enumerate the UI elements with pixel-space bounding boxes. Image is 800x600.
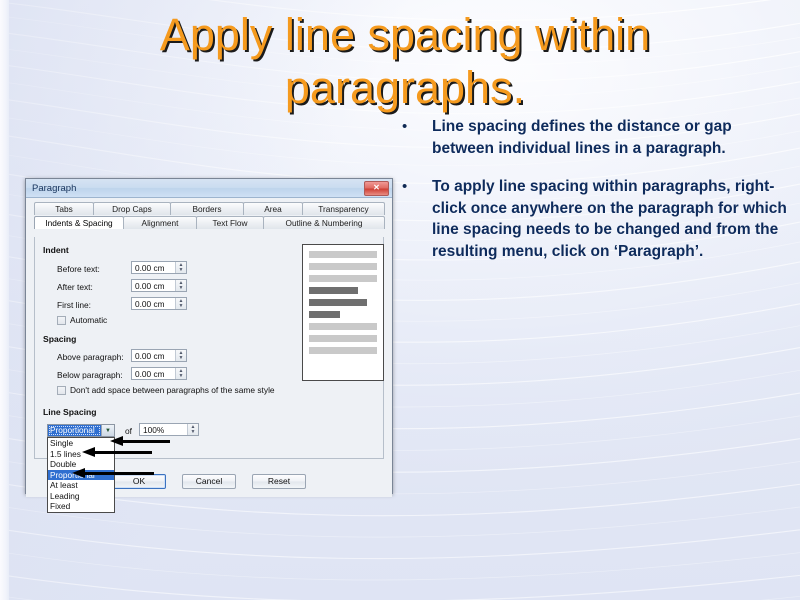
indents-and-spacing-panel: Indent Before text: 0.00 cm ▲▼ After tex…: [34, 237, 384, 459]
spinner-arrows-icon[interactable]: ▲▼: [175, 262, 186, 273]
tab-indents-and-spacing[interactable]: Indents & Spacing: [34, 216, 124, 229]
tab-tabs[interactable]: Tabs: [34, 202, 94, 215]
paragraph-dialog: Paragraph ✕ Tabs Drop Caps Borders Area …: [25, 178, 393, 494]
tab-alignment[interactable]: Alignment: [123, 216, 197, 229]
close-icon[interactable]: ✕: [364, 181, 389, 196]
bullet-point-icon: •: [398, 176, 432, 198]
spacing-group-title: Spacing: [43, 334, 76, 344]
line-spacing-group-title: Line Spacing: [43, 407, 96, 417]
automatic-checkbox-label: Automatic: [70, 315, 107, 325]
line-spacing-proportion-input[interactable]: 100% ▲▼: [139, 423, 199, 436]
spinner-arrows-icon[interactable]: ▲▼: [175, 280, 186, 291]
dropdown-option-leading[interactable]: Leading: [48, 491, 114, 502]
reset-button[interactable]: Reset: [252, 474, 306, 489]
preview-line: [309, 323, 377, 330]
below-paragraph-label: Below paragraph:: [57, 370, 123, 380]
spinner-arrows-icon[interactable]: ▲▼: [175, 350, 186, 361]
checkbox-box-icon: [57, 386, 66, 395]
line-spacing-select[interactable]: Proportional ▼: [47, 424, 115, 437]
bullet-point-icon: •: [398, 116, 432, 138]
bullet-text: To apply line spacing within paragraphs,…: [432, 176, 790, 262]
bullet-list: • Line spacing defines the distance or g…: [398, 116, 790, 279]
preview-line: [309, 275, 377, 282]
bullet-text: Line spacing defines the distance or gap…: [432, 116, 790, 159]
preview-line: [309, 263, 377, 270]
spinner-arrows-icon[interactable]: ▲▼: [175, 298, 186, 309]
of-label: of: [125, 426, 132, 436]
below-paragraph-value: 0.00 cm: [132, 369, 175, 379]
arrow-head-icon: [82, 447, 95, 457]
chevron-down-icon[interactable]: ▼: [101, 425, 114, 436]
tab-outline-and-numbering[interactable]: Outline & Numbering: [263, 216, 385, 229]
tab-text-flow[interactable]: Text Flow: [196, 216, 264, 229]
arrow-shaft: [92, 451, 152, 454]
above-paragraph-input[interactable]: 0.00 cm ▲▼: [131, 349, 187, 362]
after-text-label: After text:: [57, 282, 93, 292]
cancel-button[interactable]: Cancel: [182, 474, 236, 489]
arrow-shaft: [118, 440, 170, 443]
arrow-head-icon: [110, 436, 123, 446]
tab-row-primary: Indents & Spacing Alignment Text Flow Ou…: [26, 216, 392, 229]
tab-row-secondary: Tabs Drop Caps Borders Area Transparency: [26, 202, 392, 215]
tab-area[interactable]: Area: [243, 202, 303, 215]
first-line-value: 0.00 cm: [132, 299, 175, 309]
dialog-title-bar[interactable]: Paragraph ✕: [26, 179, 392, 198]
tab-transparency[interactable]: Transparency: [302, 202, 385, 215]
paragraph-preview: [302, 244, 384, 381]
arrow-shaft: [82, 472, 154, 475]
slide-title: Apply line spacing within paragraphs.: [60, 8, 750, 114]
above-paragraph-value: 0.00 cm: [132, 351, 175, 361]
below-paragraph-input[interactable]: 0.00 cm ▲▼: [131, 367, 187, 380]
before-text-label: Before text:: [57, 264, 100, 274]
line-spacing-proportion-value: 100%: [140, 425, 187, 435]
no-extra-space-checkbox[interactable]: Don't add space between paragraphs of th…: [57, 385, 275, 395]
preview-line: [309, 311, 340, 318]
automatic-checkbox[interactable]: Automatic: [57, 315, 107, 325]
preview-line: [309, 287, 358, 294]
line-spacing-selected-value: Proportional: [48, 425, 101, 436]
above-paragraph-label: Above paragraph:: [57, 352, 124, 362]
preview-line: [309, 299, 367, 306]
preview-line: [309, 251, 377, 258]
tab-borders[interactable]: Borders: [170, 202, 244, 215]
spinner-arrows-icon[interactable]: ▲▼: [187, 424, 198, 435]
list-item: • Line spacing defines the distance or g…: [398, 116, 790, 159]
tab-drop-caps[interactable]: Drop Caps: [93, 202, 171, 215]
first-line-label: First line:: [57, 300, 91, 310]
dropdown-option-fixed[interactable]: Fixed: [48, 501, 114, 512]
annotation-arrow-proportional: [110, 436, 170, 447]
annotation-arrow-at-least: [82, 447, 152, 458]
dialog-title: Paragraph: [32, 183, 364, 194]
annotation-arrow-fixed: [72, 468, 154, 479]
after-text-input[interactable]: 0.00 cm ▲▼: [131, 279, 187, 292]
preview-line: [309, 347, 377, 354]
after-text-value: 0.00 cm: [132, 281, 175, 291]
list-item: • To apply line spacing within paragraph…: [398, 176, 790, 262]
preview-line: [309, 335, 377, 342]
arrow-head-icon: [72, 468, 85, 478]
slide-canvas: Apply line spacing within paragraphs. • …: [0, 0, 800, 600]
indent-group-title: Indent: [43, 245, 69, 255]
before-text-input[interactable]: 0.00 cm ▲▼: [131, 261, 187, 274]
no-extra-space-checkbox-label: Don't add space between paragraphs of th…: [70, 385, 275, 395]
first-line-input[interactable]: 0.00 cm ▲▼: [131, 297, 187, 310]
dropdown-option-at-least[interactable]: At least: [48, 480, 114, 491]
checkbox-box-icon: [57, 316, 66, 325]
spinner-arrows-icon[interactable]: ▲▼: [175, 368, 186, 379]
before-text-value: 0.00 cm: [132, 263, 175, 273]
dialog-body: Tabs Drop Caps Borders Area Transparency…: [26, 202, 392, 497]
slide-left-margin-strip: [0, 0, 9, 600]
